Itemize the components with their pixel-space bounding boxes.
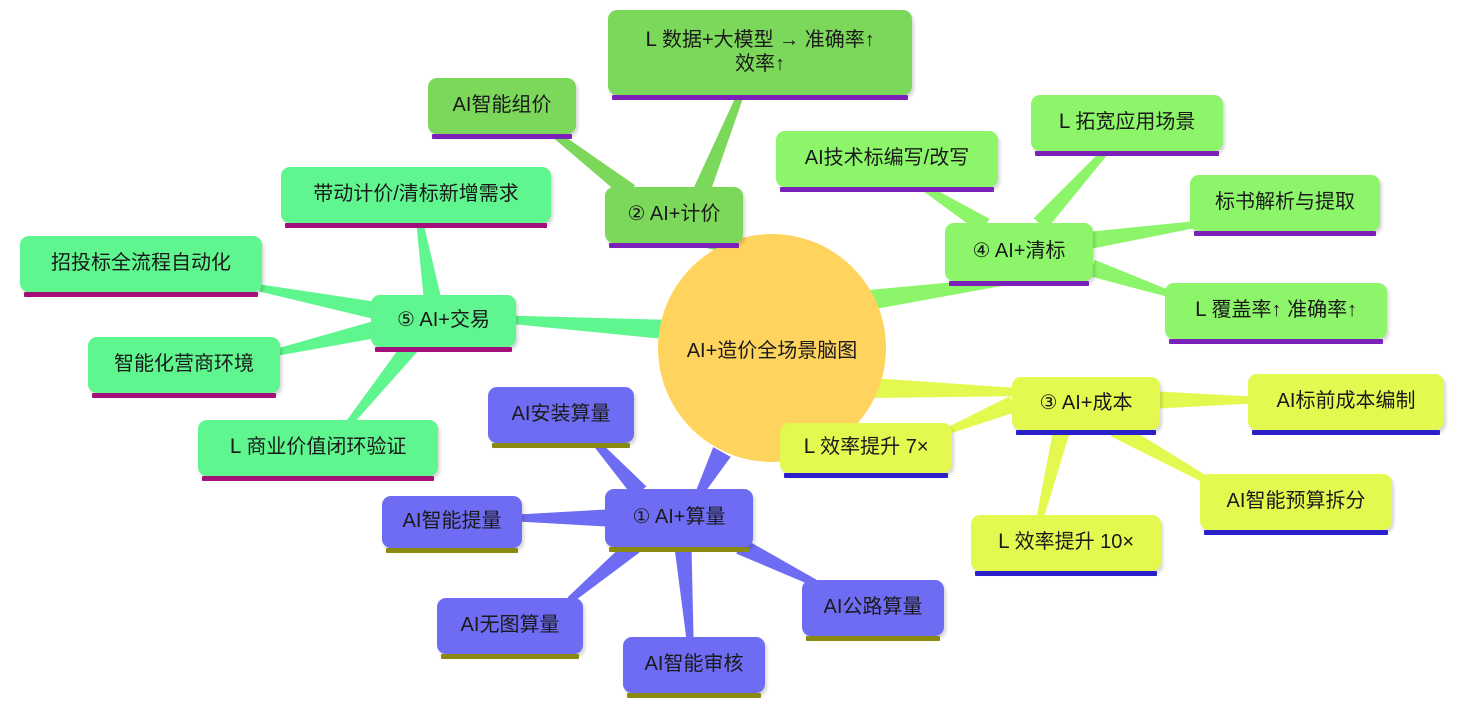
branch-node-ai-jijia-underline <box>609 243 739 248</box>
node-ai-tech-bid-writing[interactable]: AI技术标编写/改写 <box>776 131 998 187</box>
branch-node-ai-jijia[interactable]: ② AI+计价 <box>605 187 743 243</box>
node-business-value-loop-underline <box>202 476 434 481</box>
node-data-model-accuracy[interactable]: ᒪ 数据+大模型 → 准确率↑ 效率↑ <box>608 10 912 95</box>
branch-node-ai-chengben-underline <box>1016 430 1156 435</box>
node-full-process-automation-label: 招投标全流程自动化 <box>30 252 252 276</box>
node-bid-parse-extract-label: 标书解析与提取 <box>1200 191 1370 215</box>
branch-node-ai-jijia-label: ② AI+计价 <box>615 203 733 227</box>
node-bid-parse-extract[interactable]: 标书解析与提取 <box>1190 175 1380 231</box>
node-ai-install-quantity[interactable]: AI安装算量 <box>488 387 634 443</box>
node-expand-scenarios-label: ᒪ 拓宽应用场景 <box>1041 111 1213 135</box>
branch-node-ai-suanliang[interactable]: ① AI+算量 <box>605 489 753 547</box>
branch-node-ai-jiaoyi-underline <box>375 347 512 352</box>
node-data-model-accuracy-underline <box>612 95 908 100</box>
node-ai-pre-bid-cost-underline <box>1252 430 1440 435</box>
node-ai-smart-quantity-extract-label: AI智能提量 <box>392 510 512 534</box>
node-ai-install-quantity-label: AI安装算量 <box>498 403 624 427</box>
node-efficiency-10x-label: ᒪ 效率提升 10× <box>981 531 1151 555</box>
node-ai-drawingless-quantity-label: AI无图算量 <box>447 614 573 638</box>
node-ai-highway-quantity[interactable]: AI公路算量 <box>802 580 944 636</box>
node-ai-budget-split-underline <box>1204 530 1388 535</box>
node-full-process-automation-underline <box>24 292 258 297</box>
node-ai-smart-quantity-extract[interactable]: AI智能提量 <box>382 496 522 548</box>
node-efficiency-7x-underline <box>784 473 948 478</box>
node-ai-budget-split-label: AI智能预算拆分 <box>1210 490 1382 514</box>
branch-node-ai-suanliang-underline <box>609 547 749 552</box>
node-ai-highway-quantity-label: AI公路算量 <box>812 596 934 620</box>
node-efficiency-10x-underline <box>975 571 1157 576</box>
branch-node-ai-qingbiao-underline <box>949 281 1089 286</box>
node-drive-new-demand-label: 带动计价/清标新增需求 <box>291 183 541 207</box>
node-ai-smart-review-underline <box>627 693 761 698</box>
node-coverage-accuracy-up[interactable]: ᒪ 覆盖率↑ 准确率↑ <box>1165 283 1387 339</box>
node-ai-drawingless-quantity[interactable]: AI无图算量 <box>437 598 583 654</box>
node-ai-smart-pricing-underline <box>432 134 572 139</box>
node-ai-smart-review-label: AI智能审核 <box>633 653 755 677</box>
node-ai-budget-split[interactable]: AI智能预算拆分 <box>1200 474 1392 530</box>
node-ai-install-quantity-underline <box>492 443 630 448</box>
node-bid-parse-extract-underline <box>1194 231 1376 236</box>
node-ai-smart-quantity-extract-underline <box>386 548 518 553</box>
node-efficiency-7x[interactable]: ᒪ 效率提升 7× <box>780 423 952 473</box>
center-node-label: AI+造价全场景脑图 <box>687 334 858 363</box>
branch-node-ai-qingbiao[interactable]: ④ AI+清标 <box>945 223 1093 281</box>
node-ai-tech-bid-writing-label: AI技术标编写/改写 <box>786 147 988 171</box>
branch-node-ai-suanliang-label: ① AI+算量 <box>615 506 743 530</box>
node-ai-highway-quantity-underline <box>806 636 940 641</box>
node-expand-scenarios-underline <box>1035 151 1219 156</box>
node-smart-business-environment-label: 智能化营商环境 <box>98 353 270 377</box>
branch-node-ai-chengben-label: ③ AI+成本 <box>1022 392 1150 416</box>
branch-node-ai-chengben[interactable]: ③ AI+成本 <box>1012 377 1160 430</box>
node-ai-pre-bid-cost[interactable]: AI标前成本编制 <box>1248 374 1444 430</box>
node-ai-pre-bid-cost-label: AI标前成本编制 <box>1258 390 1434 414</box>
node-efficiency-10x[interactable]: ᒪ 效率提升 10× <box>971 515 1161 571</box>
node-business-value-loop-label: ᒪ 商业价值闭环验证 <box>208 436 428 460</box>
node-ai-smart-pricing-label: AI智能组价 <box>438 94 566 118</box>
node-smart-business-environment[interactable]: 智能化营商环境 <box>88 337 280 393</box>
branch-node-ai-qingbiao-label: ④ AI+清标 <box>955 240 1083 264</box>
node-smart-business-environment-underline <box>92 393 276 398</box>
branch-node-ai-jiaoyi-label: ⑤ AI+交易 <box>381 309 506 333</box>
node-expand-scenarios[interactable]: ᒪ 拓宽应用场景 <box>1031 95 1223 151</box>
node-efficiency-7x-label: ᒪ 效率提升 7× <box>790 436 942 460</box>
node-ai-smart-review[interactable]: AI智能审核 <box>623 637 765 693</box>
node-data-model-accuracy-label: ᒪ 数据+大模型 → 准确率↑ 效率↑ <box>618 29 902 76</box>
mindmap-canvas: AI+造价全场景脑图 ᒪ 数据+大模型 → 准确率↑ 效率↑AI智能组价② AI… <box>0 0 1457 717</box>
node-drive-new-demand[interactable]: 带动计价/清标新增需求 <box>281 167 551 223</box>
node-ai-smart-pricing[interactable]: AI智能组价 <box>428 78 576 134</box>
node-ai-tech-bid-writing-underline <box>780 187 994 192</box>
node-layer: AI+造价全场景脑图 ᒪ 数据+大模型 → 准确率↑ 效率↑AI智能组价② AI… <box>0 0 1457 717</box>
node-coverage-accuracy-up-label: ᒪ 覆盖率↑ 准确率↑ <box>1175 299 1377 323</box>
node-coverage-accuracy-up-underline <box>1169 339 1383 344</box>
node-drive-new-demand-underline <box>285 223 547 228</box>
node-business-value-loop[interactable]: ᒪ 商业价值闭环验证 <box>198 420 438 476</box>
node-ai-drawingless-quantity-underline <box>441 654 579 659</box>
node-full-process-automation[interactable]: 招投标全流程自动化 <box>20 236 262 292</box>
branch-node-ai-jiaoyi[interactable]: ⑤ AI+交易 <box>371 295 516 347</box>
